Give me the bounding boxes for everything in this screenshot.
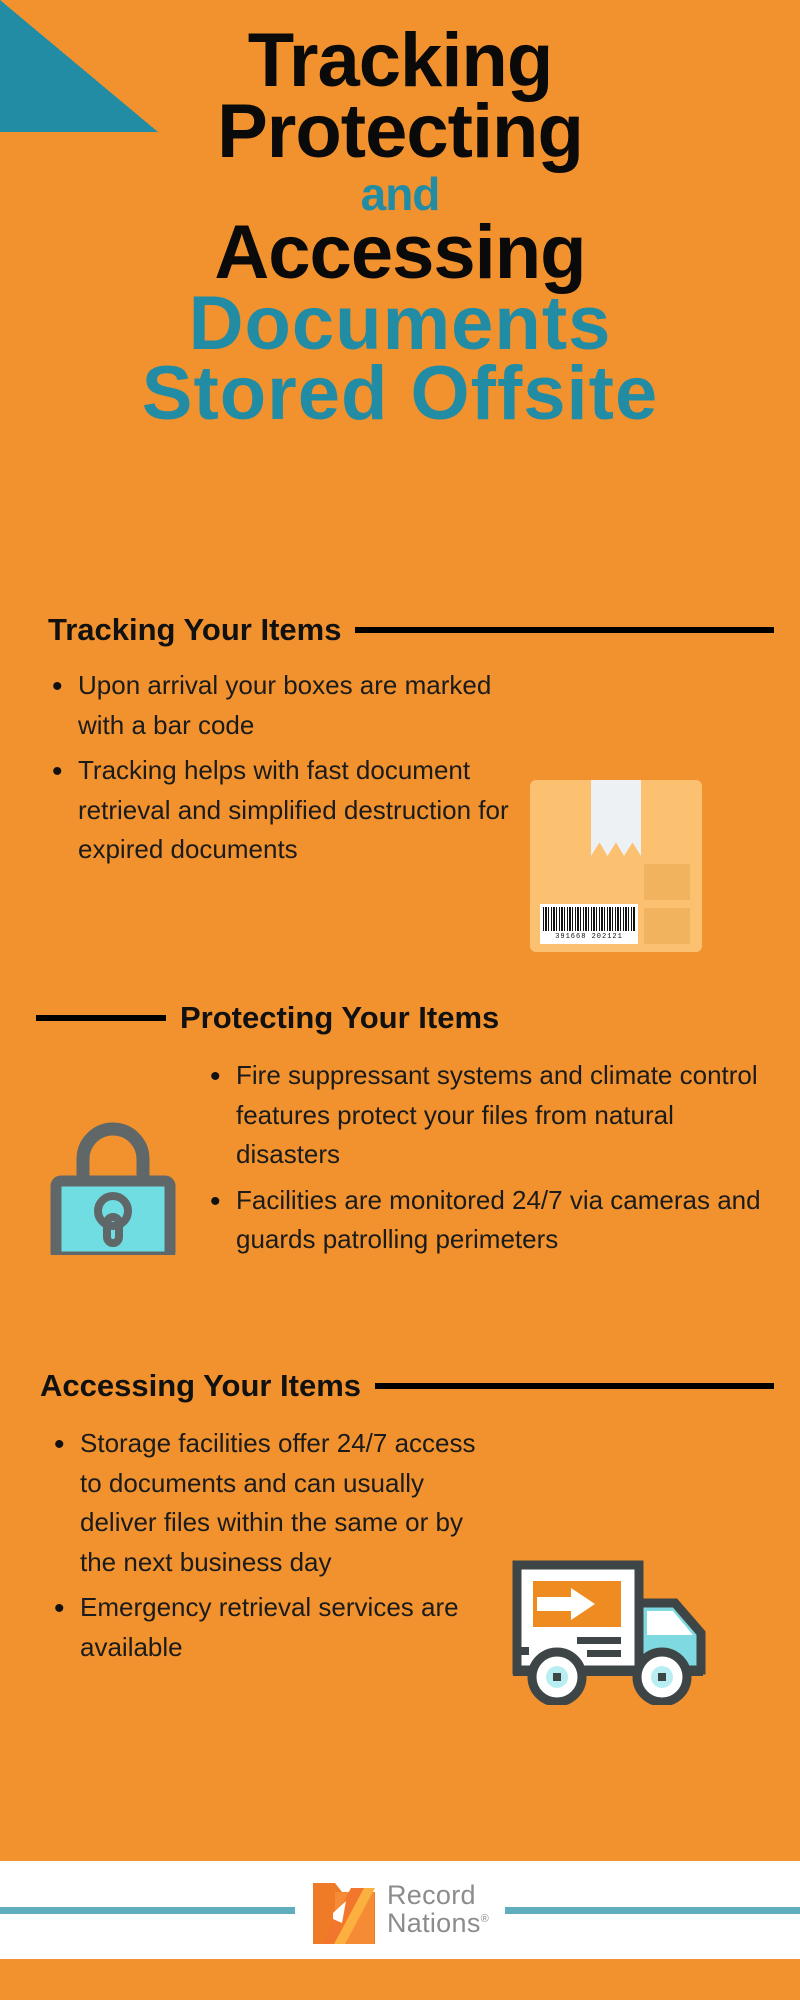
title-line-stored-offsite: Stored Offsite <box>0 359 800 430</box>
title-line-documents: Documents <box>0 289 800 360</box>
padlock-icon <box>38 1105 188 1255</box>
logo-line-nations: Nations® <box>387 1910 489 1938</box>
section-heading-accessing: Accessing Your Items <box>0 1368 800 1404</box>
list-item: Fire suppressant systems and climate con… <box>206 1056 766 1175</box>
bullet-list-tracking: Upon arrival your boxes are marked with … <box>48 666 528 870</box>
heading-rule <box>355 627 774 633</box>
page-title: Tracking Protecting and Accessing Docume… <box>0 26 800 430</box>
section-heading-accessing-label: Accessing Your Items <box>40 1368 361 1404</box>
list-item: Storage facilities offer 24/7 access to … <box>50 1424 500 1582</box>
bullet-list-protecting: Fire suppressant systems and climate con… <box>206 1056 766 1260</box>
barcode-number: 391668 202121 <box>543 931 635 943</box>
title-line-tracking: Tracking <box>0 26 800 97</box>
registered-mark: ® <box>481 1913 489 1925</box>
section-heading-protecting: Protecting Your Items <box>0 1000 800 1036</box>
list-item: Emergency retrieval services are availab… <box>50 1588 500 1667</box>
heading-rule <box>375 1383 774 1389</box>
delivery-truck-icon <box>505 1555 715 1705</box>
footer: Record Nations® <box>0 1861 800 1959</box>
record-nations-logo[interactable]: Record Nations® <box>295 1873 505 1947</box>
footer-rule-left <box>0 1907 295 1914</box>
box-label-square <box>644 908 690 944</box>
logo-line-record: Record <box>387 1882 489 1910</box>
section-heading-tracking: Tracking Your Items <box>0 612 800 648</box>
list-item: Tracking helps with fast document retrie… <box>48 751 528 870</box>
title-line-protecting: Protecting <box>0 97 800 168</box>
list-item: Upon arrival your boxes are marked with … <box>48 666 528 745</box>
section-heading-protecting-label: Protecting Your Items <box>180 1000 499 1036</box>
section-heading-tracking-label: Tracking Your Items <box>48 612 341 648</box>
barcode-bars <box>543 907 635 931</box>
title-line-accessing: Accessing <box>0 218 800 289</box>
footer-rule-right <box>505 1907 800 1914</box>
logo-wordmark: Record Nations® <box>387 1882 489 1937</box>
list-item: Facilities are monitored 24/7 via camera… <box>206 1181 766 1260</box>
heading-rule <box>36 1015 166 1021</box>
bullet-list-accessing: Storage facilities offer 24/7 access to … <box>50 1424 500 1667</box>
folder-logo-icon <box>311 1873 377 1947</box>
barcode: 391668 202121 <box>540 904 638 944</box>
box-label-square <box>644 864 690 900</box>
box-barcode-icon: 391668 202121 <box>530 780 702 952</box>
